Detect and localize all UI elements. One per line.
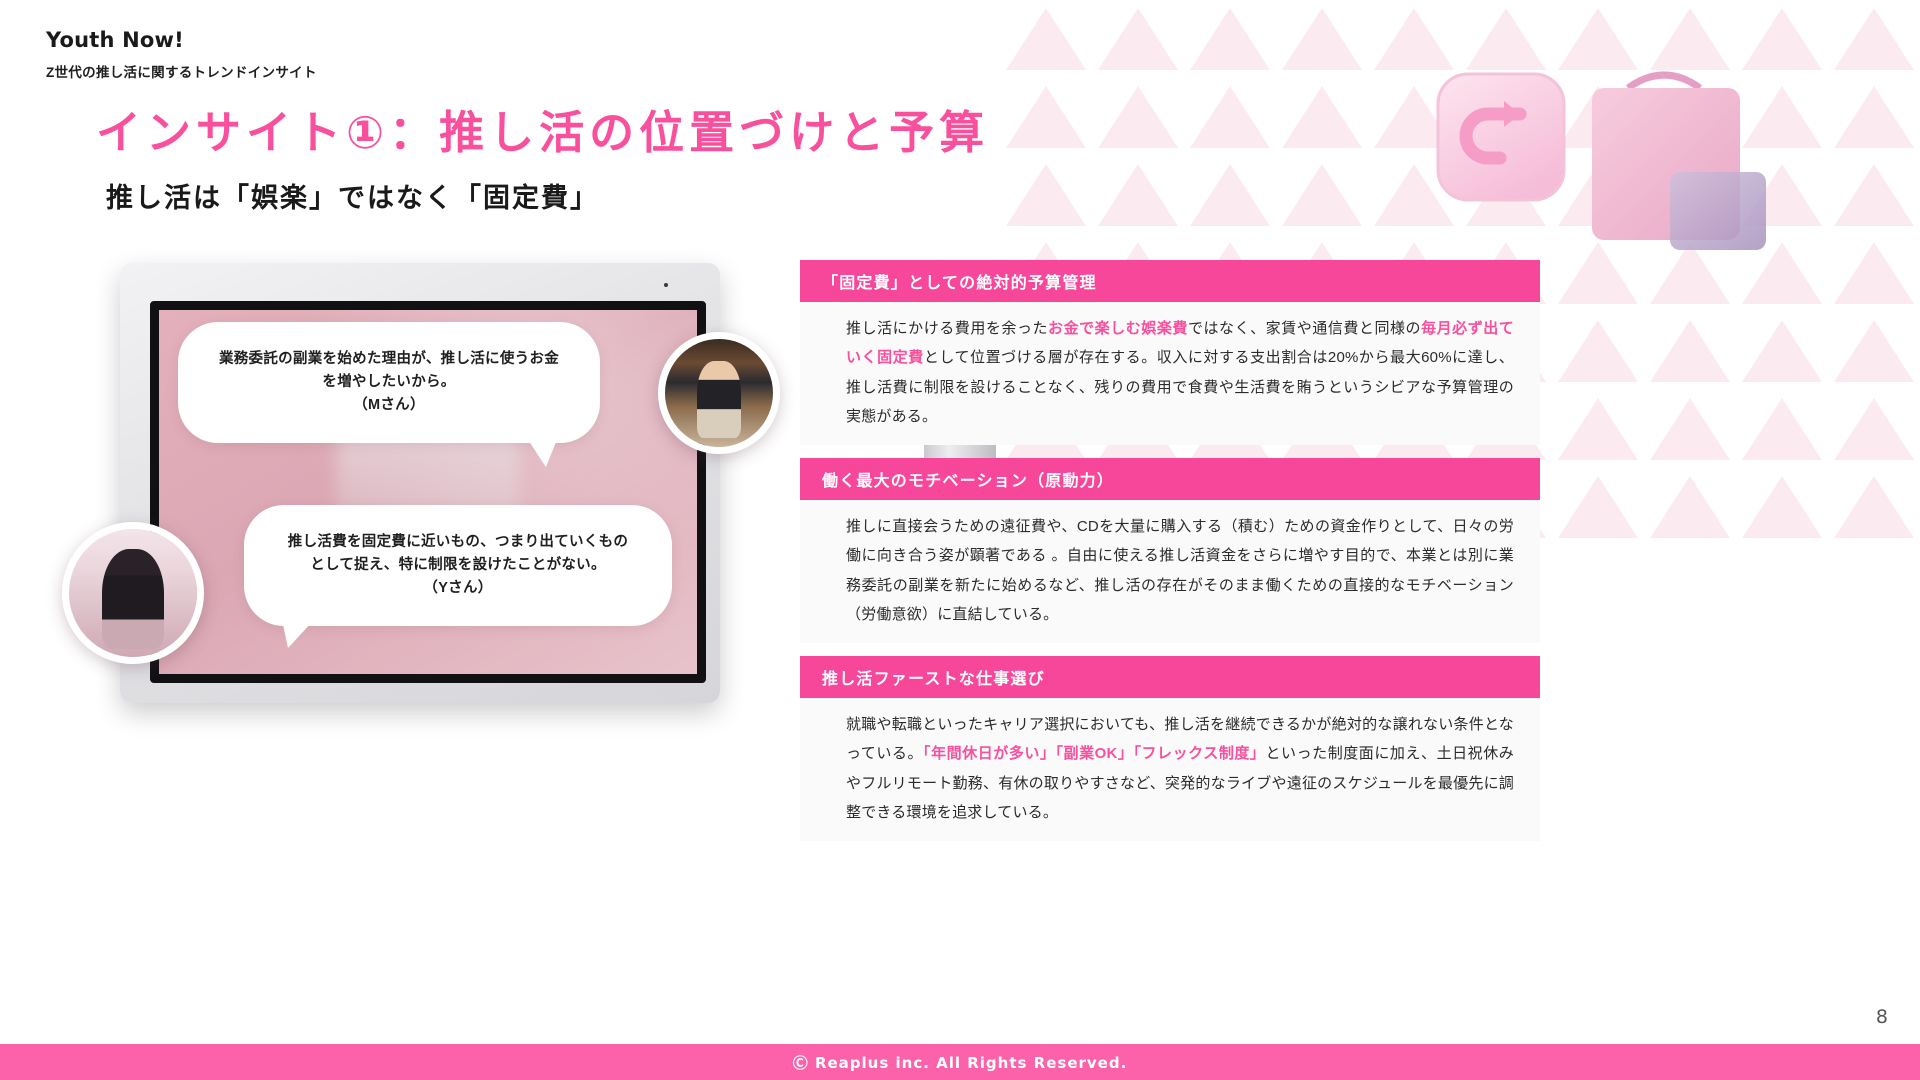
quote-line-2: として捉え、特に制限を設けたことがない。 xyxy=(274,554,642,577)
brand-name: Youth Now! xyxy=(46,28,317,52)
insight-panel-list: 「固定費」としての絶対的予算管理 推し活にかける費用を余ったお金で楽しむ娯楽費で… xyxy=(800,260,1540,854)
footer-bar: Ⓒ Reaplus inc. All Rights Reserved. xyxy=(0,1044,1920,1080)
quote-line-1: 業務委託の副業を始めた理由が、推し活に使うお金 xyxy=(208,348,570,371)
insight-panel: 「固定費」としての絶対的予算管理 推し活にかける費用を余ったお金で楽しむ娯楽費で… xyxy=(800,260,1540,445)
avatar-person-y xyxy=(62,522,204,664)
avatar-person-m xyxy=(658,332,780,454)
panel-body: 推しに直接会うための遠征費や、CDを大量に購入する（積む）ための資金作りとして、… xyxy=(800,500,1540,643)
page-number: 8 xyxy=(1876,1006,1888,1028)
avatar-figure xyxy=(697,361,740,439)
quote-attribution: （Yさん） xyxy=(274,577,642,600)
insight-panel: 働く最大のモチベーション（原動力） 推しに直接会うための遠征費や、CDを大量に購… xyxy=(800,458,1540,643)
panel-heading: 働く最大のモチベーション（原動力） xyxy=(800,458,1540,500)
avatar-figure xyxy=(102,549,163,649)
copyright-text: Ⓒ Reaplus inc. All Rights Reserved. xyxy=(793,1052,1128,1073)
quote-line-1: 推し活費を固定費に近いもの、つまり出ていくもの xyxy=(274,531,642,554)
avatar-photo xyxy=(69,529,197,657)
body-text-run: として位置づける層が存在する。収入に対する支出割合は20%から最大60%に達し、… xyxy=(846,349,1514,425)
shopping-bag-illustration xyxy=(1432,52,1792,267)
insight-panel: 推し活ファーストな仕事選び 就職や転職といったキャリア選択においても、推し活を継… xyxy=(800,656,1540,841)
bubble-tail-icon xyxy=(282,620,314,648)
brand-tagline: Z世代の推し活に関するトレンドインサイト xyxy=(46,61,317,81)
quote-attribution: （Mさん） xyxy=(208,394,570,417)
page-title: インサイト①：推し活の位置づけと予算 xyxy=(96,96,989,161)
panel-heading: 推し活ファーストな仕事選び xyxy=(800,656,1540,698)
brand-block: Youth Now! Z世代の推し活に関するトレンドインサイト xyxy=(46,28,317,81)
highlighted-phrase: お金で楽しむ娯楽費 xyxy=(1048,320,1188,337)
quote-line-2: を増やしたいから。 xyxy=(208,371,570,394)
highlighted-phrase: 「年間休日が多い」「副業OK」「フレックス制度」 xyxy=(923,745,1265,762)
quote-bubble-y: 推し活費を固定費に近いもの、つまり出ていくもの として捉え、特に制限を設けたこと… xyxy=(244,505,672,626)
webcam-dot-icon xyxy=(664,283,668,287)
panel-body: 推し活にかける費用を余ったお金で楽しむ娯楽費ではなく、家賃や通信費と同様の毎月必… xyxy=(800,302,1540,445)
page-subtitle: 推し活は「娯楽」ではなく「固定費」 xyxy=(106,176,599,215)
panel-body: 就職や転職といったキャリア選択においても、推し活を継続できるかが絶対的な譲れない… xyxy=(800,698,1540,841)
panel-heading: 「固定費」としての絶対的予算管理 xyxy=(800,260,1540,302)
quote-bubble-m: 業務委託の副業を始めた理由が、推し活に使うお金 を増やしたいから。 （Mさん） xyxy=(178,322,600,443)
body-text-run: 推し活にかける費用を余った xyxy=(846,320,1048,337)
body-text-run: 推しに直接会うための遠征費や、CDを大量に購入する（積む）ための資金作りとして、… xyxy=(846,518,1514,623)
bubble-tail-icon xyxy=(522,437,558,467)
body-text-run: ではなく、家賃や通信費と同様の xyxy=(1188,320,1421,337)
avatar-photo xyxy=(665,339,773,447)
